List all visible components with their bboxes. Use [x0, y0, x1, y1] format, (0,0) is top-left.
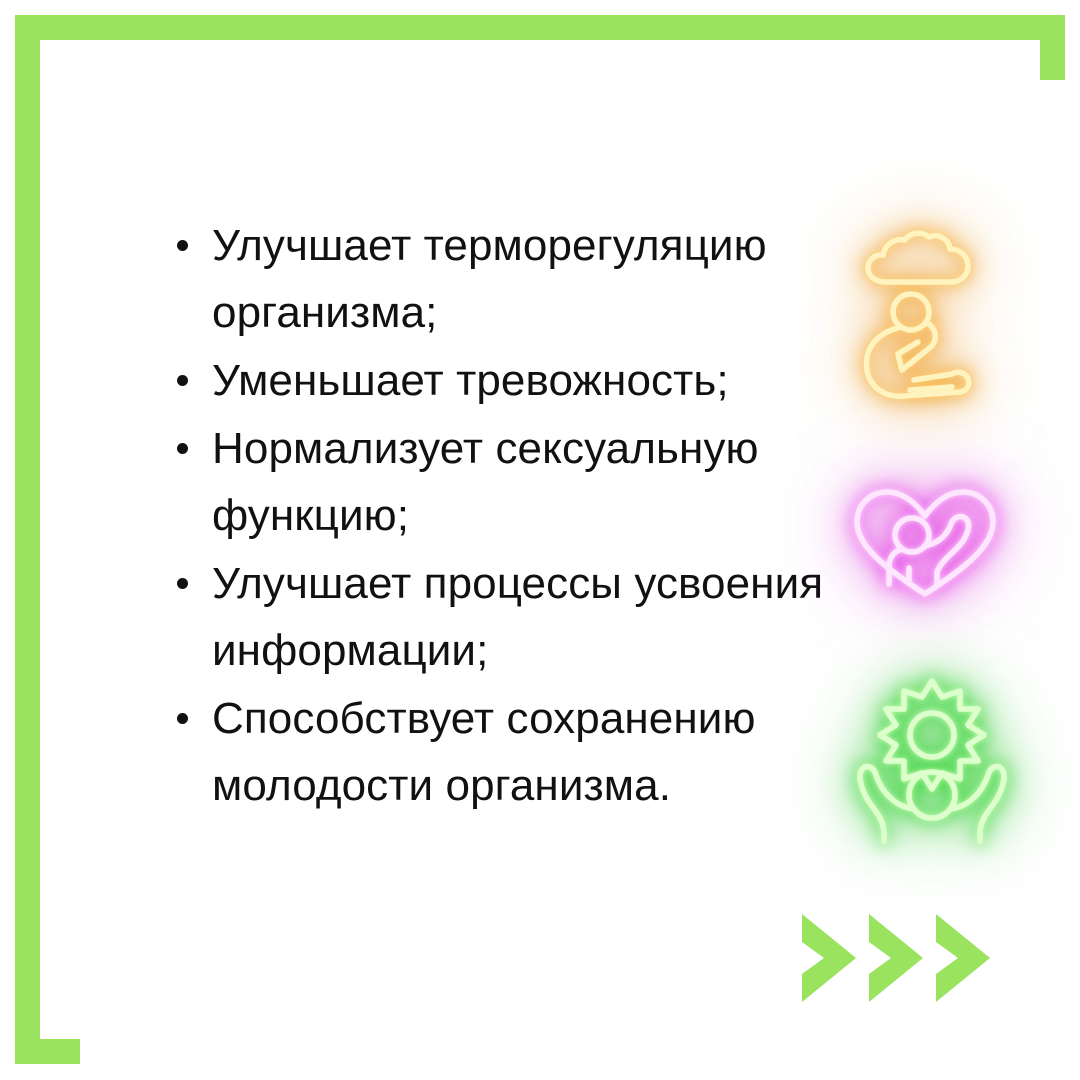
- green-border-frame: Улучшает терморегуляцию организма; Умень…: [15, 15, 1065, 1064]
- list-item-label: Уменьшает тревожность;: [212, 347, 932, 414]
- bullet-dot-icon: [177, 443, 188, 454]
- sun-person-vitality-icon: [852, 675, 1012, 845]
- list-item-label: Улучшает терморегуляцию организма;: [212, 212, 870, 346]
- list-item-label: Нормализует сексуальную функцию;: [212, 415, 870, 549]
- next-arrows[interactable]: [798, 908, 998, 1008]
- list-item: Улучшает процессы усвоения информации;: [170, 550, 870, 684]
- list-item-label: Способствует сохранению молодости органи…: [212, 685, 870, 819]
- list-item-label: Улучшает процессы усвоения информации;: [212, 550, 870, 684]
- chevron-right-icon[interactable]: [865, 908, 931, 1008]
- benefits-list: Улучшает терморегуляцию организма; Умень…: [170, 212, 870, 820]
- bullet-dot-icon: [177, 240, 188, 251]
- list-item: Улучшает терморегуляцию организма;: [170, 212, 870, 346]
- list-item: Уменьшает тревожность;: [170, 347, 932, 414]
- slide-root: Улучшает терморегуляцию организма; Умень…: [0, 0, 1080, 1080]
- bullet-dot-icon: [177, 578, 188, 589]
- anxiety-person-cloud-icon: [840, 230, 1000, 415]
- chevron-right-icon[interactable]: [798, 908, 864, 1008]
- content-canvas: Улучшает терморегуляцию организма; Умень…: [80, 80, 1080, 1079]
- heart-person-icon: [845, 480, 1005, 605]
- list-item: Нормализует сексуальную функцию;: [170, 415, 870, 549]
- bullet-dot-icon: [177, 713, 188, 724]
- bullet-dot-icon: [177, 375, 188, 386]
- list-item: Способствует сохранению молодости органи…: [170, 685, 870, 819]
- chevron-right-icon[interactable]: [932, 908, 998, 1008]
